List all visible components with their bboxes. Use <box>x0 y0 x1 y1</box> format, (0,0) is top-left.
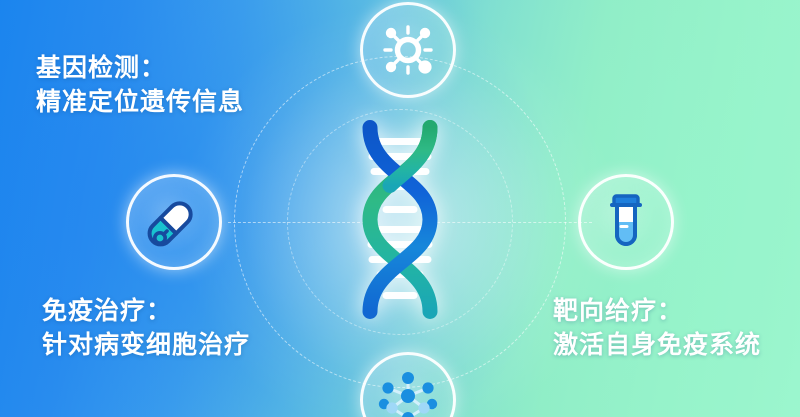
label-immunotherapy-line1: 免疫治疗： <box>42 295 250 329</box>
capsule-pill-icon <box>145 193 203 251</box>
label-targeted-therapy: 靶向给疗： 激活自身免疫系统 <box>553 295 761 362</box>
label-immunotherapy: 免疫治疗： 针对病变细胞治疗 <box>42 295 250 362</box>
molecule-cell-icon <box>380 22 436 78</box>
label-gene-testing-line1: 基因检测： <box>36 52 244 86</box>
dna-helix-graphic <box>342 114 458 331</box>
badge-test-tube[interactable] <box>578 174 674 270</box>
label-targeted-therapy-line2: 激活自身免疫系统 <box>553 329 761 363</box>
label-targeted-therapy-line1: 靶向给疗： <box>553 295 761 329</box>
label-immunotherapy-line2: 针对病变细胞治疗 <box>42 329 250 363</box>
molecule-network-icon <box>376 370 440 417</box>
label-gene-testing: 基因检测： 精准定位遗传信息 <box>36 52 244 119</box>
infographic-canvas: 基因检测： 精准定位遗传信息 免疫治疗： 针对病变细胞治疗 靶向给疗： 激活自身… <box>0 0 800 417</box>
label-gene-testing-line2: 精准定位遗传信息 <box>36 86 244 120</box>
badge-molecule-network[interactable] <box>360 352 456 417</box>
badge-capsule-pill[interactable] <box>126 174 222 270</box>
test-tube-icon <box>600 193 652 251</box>
badge-molecule-cell[interactable] <box>360 2 456 98</box>
